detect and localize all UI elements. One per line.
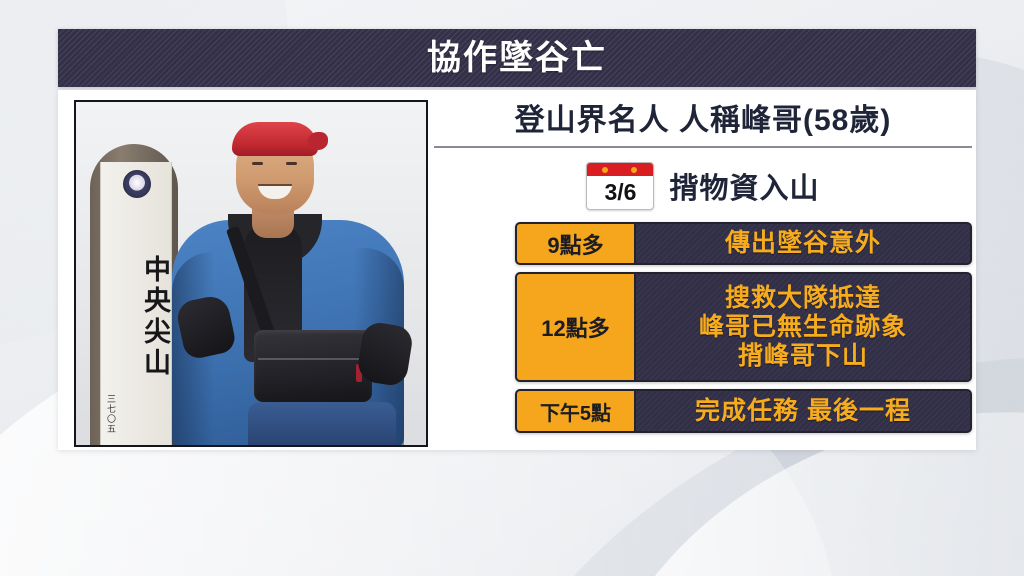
timeline-event-body: 搜救大隊抵達 峰哥已無生命跡象 揹峰哥下山 — [636, 274, 970, 380]
page-title: 協作墜谷亡 — [427, 41, 607, 75]
timeline-row: 9點多 傳出墜谷意外 — [515, 222, 972, 265]
bandana-knot — [308, 132, 328, 150]
divider — [434, 146, 972, 148]
timeline-event-line: 揹峰哥下山 — [738, 342, 868, 371]
calendar-date-value: 3/6 — [587, 176, 653, 208]
timeline-row: 下午5點 完成任務 最後一程 — [515, 389, 972, 433]
timeline-event-line: 搜救大隊抵達 — [725, 284, 881, 313]
calendar-icon: 3/6 — [586, 162, 654, 210]
timeline-list: 9點多 傳出墜谷意外 12點多 搜救大隊抵達 峰哥已無生命跡象 揹峰哥下山 下午… — [434, 222, 972, 433]
summit-marker-elevation: 三七〇五 — [105, 394, 118, 434]
timeline-event-line: 峰哥已無生命跡象 — [699, 313, 907, 342]
subtitle-text: 登山界名人 人稱峰哥(58歲) — [434, 100, 972, 137]
timeline-event-body: 傳出墜谷意外 — [636, 224, 970, 263]
info-column: 登山界名人 人稱峰哥(58歲) 3/6 揹物資入山 9點多 傳出墜谷意外 12點… — [434, 100, 972, 440]
header-bar: 協作墜谷亡 — [58, 29, 976, 87]
timeline-time-label: 12點多 — [517, 274, 636, 380]
summit-emblem-icon — [123, 170, 151, 198]
calendar-header-band — [587, 163, 653, 176]
timeline-event-body: 完成任務 最後一程 — [636, 391, 970, 431]
timeline-event-line: 完成任務 最後一程 — [695, 397, 911, 426]
timeline-row: 12點多 搜救大隊抵達 峰哥已無生命跡象 揹峰哥下山 — [515, 272, 972, 382]
climber-eye-left — [252, 162, 263, 165]
news-graphic-stage: 協作墜谷亡 中央尖山 三七〇五 — [0, 0, 1024, 576]
date-row: 3/6 揹物資入山 — [434, 162, 972, 210]
date-description: 揹物資入山 — [669, 165, 819, 207]
bag-zipper — [258, 358, 366, 360]
climber-photo: 中央尖山 三七〇五 — [74, 100, 428, 447]
climber-eye-right — [286, 162, 297, 165]
timeline-event-line: 傳出墜谷意外 — [725, 229, 881, 258]
sling-bag — [254, 330, 372, 402]
timeline-time-label: 9點多 — [517, 224, 636, 263]
calendar-ring-left-icon — [602, 167, 608, 173]
red-bandana — [232, 122, 318, 156]
climber-pants — [248, 402, 396, 445]
calendar-ring-right-icon — [631, 167, 637, 173]
summit-marker-plate: 中央尖山 三七〇五 — [100, 162, 172, 445]
timeline-time-label: 下午5點 — [517, 391, 636, 431]
